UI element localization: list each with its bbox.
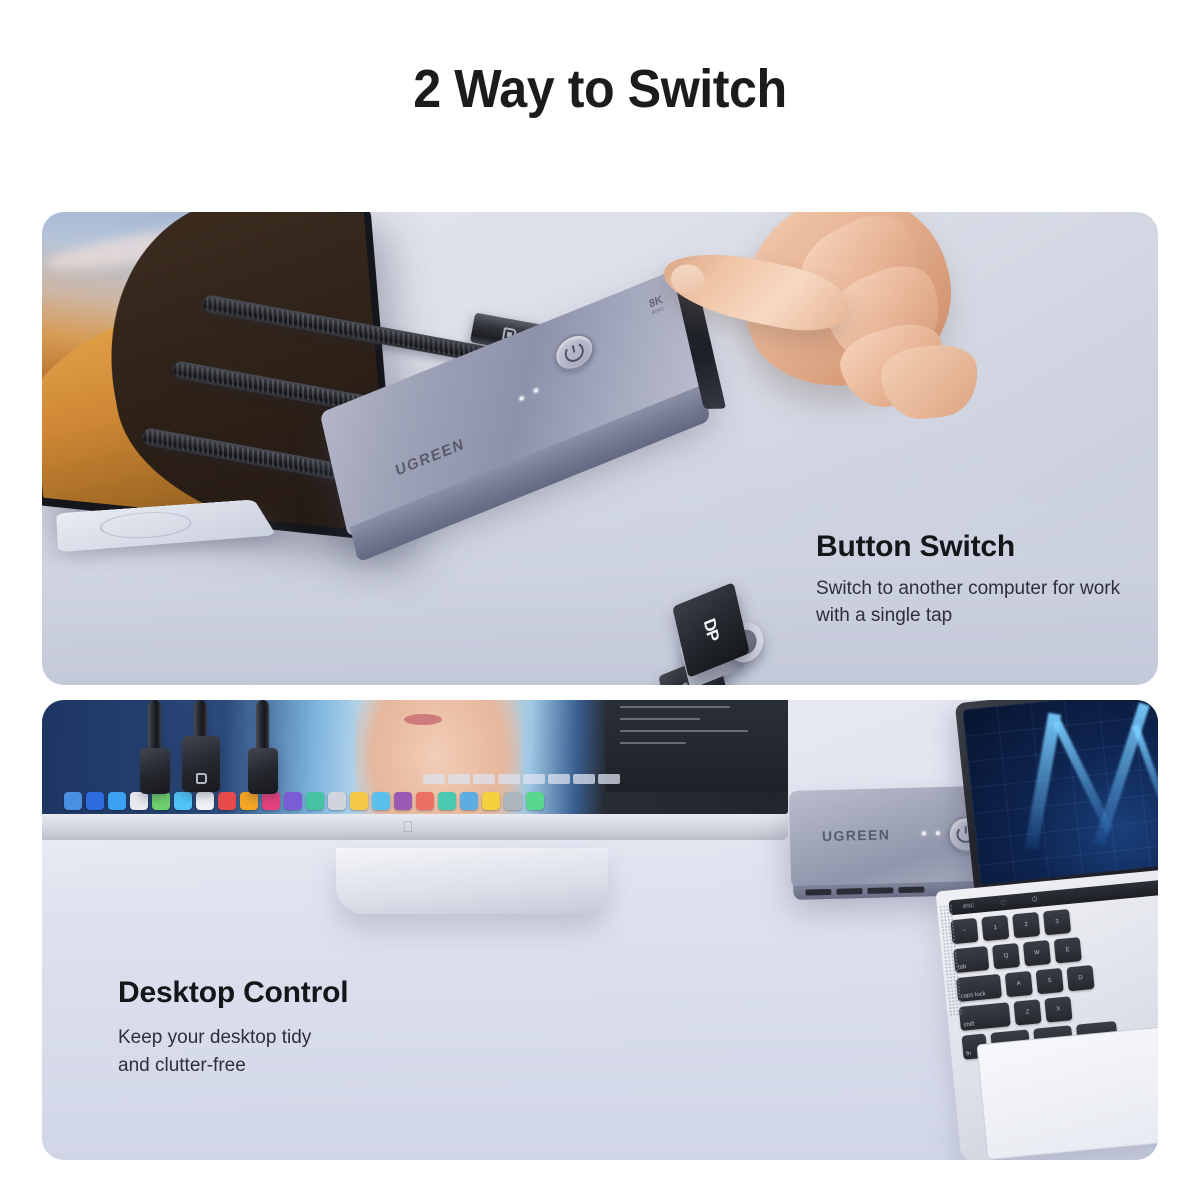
panel-desktop-control:  UGREEN 8K 60Hz	[42, 700, 1158, 1160]
keyboard-key[interactable]: X	[1044, 996, 1072, 1022]
caption-heading: Desktop Control	[118, 976, 448, 1010]
page-title: 2 Way to Switch	[42, 58, 1158, 120]
caption-body-line1: Keep your desktop tidy	[118, 1024, 448, 1052]
dock-icon[interactable]	[130, 792, 148, 810]
touch-bar-key[interactable]: esc	[963, 902, 975, 910]
toolbar-chip[interactable]	[498, 774, 520, 784]
dp-connector-label: DP	[699, 616, 722, 645]
dock-icon[interactable]	[108, 792, 126, 810]
dock-icon[interactable]	[306, 792, 324, 810]
keyboard-key[interactable]: 2	[1012, 912, 1040, 938]
dock-icon[interactable]	[152, 792, 170, 810]
usb-port	[867, 887, 893, 894]
device-brand-label: UGREEN	[822, 826, 891, 844]
keyboard-key[interactable]: S	[1036, 968, 1064, 994]
panel-button-switch: UGREEN 8K 60Hz DP	[42, 212, 1158, 685]
usb-port	[805, 889, 831, 896]
toolbar-chip[interactable]	[548, 774, 570, 784]
dock-icon[interactable]	[328, 792, 346, 810]
touch-bar-key[interactable]: ♡	[1000, 898, 1007, 907]
usb-port	[836, 888, 862, 895]
dock-icon[interactable]	[284, 792, 302, 810]
laptop-trackpad[interactable]	[976, 1026, 1158, 1160]
imac-stand-foot	[336, 848, 608, 914]
cable-connector	[140, 748, 170, 794]
apple-logo-icon: 	[402, 820, 413, 835]
caption-body: Switch to another computer for work with…	[816, 576, 1146, 630]
dp-icon	[196, 773, 207, 784]
caption-desktop-control: Desktop Control Keep your desktop tidy a…	[118, 976, 448, 1079]
keyboard-key[interactable]: 1	[981, 915, 1009, 941]
toolbar-chip[interactable]	[448, 774, 470, 784]
dock-icon[interactable]	[526, 792, 544, 810]
hand-pressing-button	[646, 212, 976, 490]
caption-button-switch: Button Switch Switch to another computer…	[816, 530, 1146, 630]
dock-icon[interactable]	[394, 792, 412, 810]
touch-bar-key[interactable]: ⏻	[1032, 895, 1038, 903]
keyboard-key[interactable]: Z	[1013, 999, 1041, 1025]
dock-icon[interactable]	[350, 792, 368, 810]
laptop-lid	[955, 700, 1158, 893]
caption-heading: Button Switch	[816, 530, 1146, 564]
dock-icon[interactable]	[504, 792, 522, 810]
keyboard-key[interactable]: W	[1023, 940, 1051, 966]
toolbar-chip[interactable]	[598, 774, 620, 784]
dock-icon[interactable]	[240, 792, 258, 810]
keyboard-key[interactable]: E	[1054, 937, 1082, 963]
laptop-screen	[962, 700, 1158, 885]
dock-icon[interactable]	[460, 792, 478, 810]
toolbar-chip[interactable]	[573, 774, 595, 784]
dock-icon[interactable]	[372, 792, 390, 810]
keyboard-key[interactable]: caps lock	[956, 974, 1002, 1002]
keyboard-key[interactable]: shift	[959, 1002, 1011, 1031]
dock-icon[interactable]	[218, 792, 236, 810]
fingernail	[668, 261, 707, 297]
status-led	[922, 831, 926, 835]
dock-icon[interactable]	[196, 792, 214, 810]
caption-body-line2: and clutter-free	[118, 1052, 448, 1080]
macbook-laptop: esc♡⏻~123tabQWEcaps lockASDshiftZXfncont…	[940, 700, 1158, 1160]
dock-icon[interactable]	[262, 792, 280, 810]
dock-icon[interactable]	[174, 792, 192, 810]
keyboard-key[interactable]: 3	[1043, 909, 1071, 935]
laptop-base: esc♡⏻~123tabQWEcaps lockASDshiftZXfncont…	[936, 866, 1158, 1160]
dock-icon[interactable]	[438, 792, 456, 810]
imac-chin: 	[42, 814, 788, 840]
toolbar-chip[interactable]	[423, 774, 445, 784]
product-feature-page: 2 Way to Switch	[0, 0, 1200, 1200]
toolbar-chip[interactable]	[523, 774, 545, 784]
keyboard-key[interactable]: A	[1005, 971, 1033, 997]
dock-icon[interactable]	[416, 792, 434, 810]
cable-connector	[248, 748, 278, 794]
screen-photo-detail	[404, 714, 442, 725]
keyboard-key[interactable]: D	[1066, 965, 1094, 991]
caption-body: Keep your desktop tidy and clutter-free	[118, 1024, 448, 1079]
stand-disc	[98, 509, 197, 541]
usb-port	[898, 886, 924, 893]
dock-icon[interactable]	[86, 792, 104, 810]
toolbar-chip[interactable]	[473, 774, 495, 784]
dock-icon[interactable]	[64, 792, 82, 810]
screen-toolbar	[423, 773, 773, 785]
dock-icon[interactable]	[482, 792, 500, 810]
dp-cable-connector	[182, 736, 220, 792]
keyboard-key[interactable]: Q	[992, 943, 1020, 969]
